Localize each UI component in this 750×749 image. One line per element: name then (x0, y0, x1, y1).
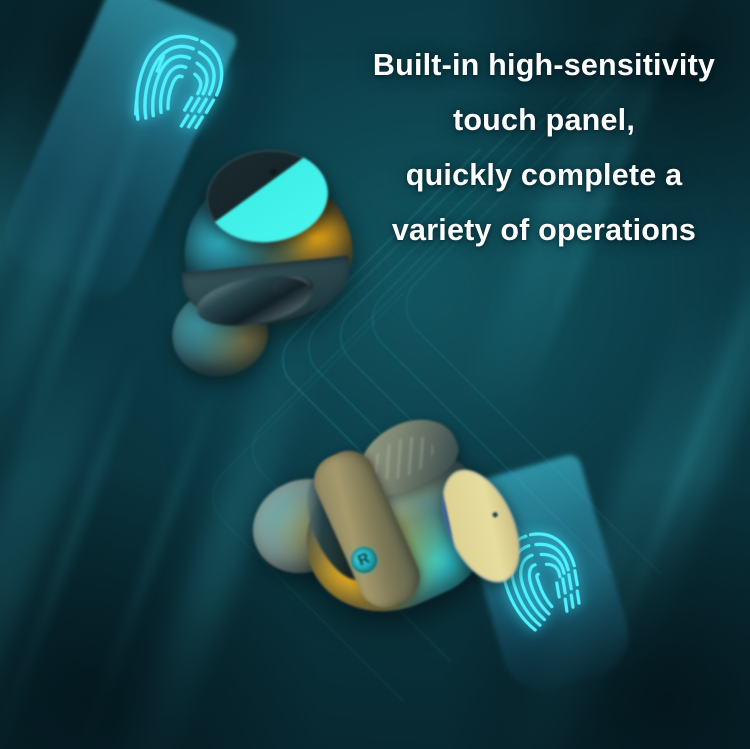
headline-line-3: quickly complete a (348, 148, 740, 203)
headline-line-4: variety of operations (348, 203, 740, 258)
earbud-right: R (258, 420, 548, 660)
earbud-left (168, 138, 368, 368)
mic-hole-icon (491, 511, 498, 518)
headline-block: Built-in high-sensitivity touch panel, q… (348, 38, 740, 258)
headline-line-2: touch panel, (348, 93, 740, 148)
headline-line-1: Built-in high-sensitivity (348, 38, 740, 93)
mic-hole-icon (270, 169, 276, 175)
product-banner: R Built-in high-sensitivity touch panel,… (0, 0, 750, 749)
